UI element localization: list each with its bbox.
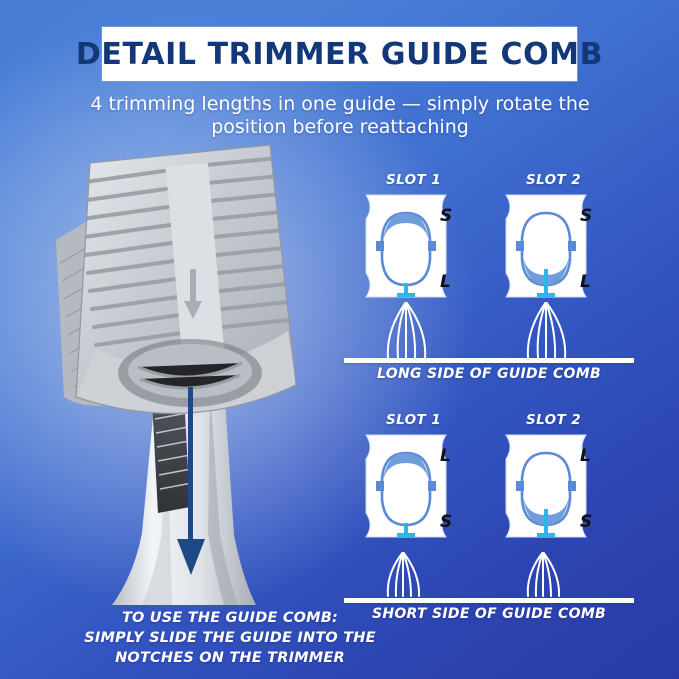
letter-bottom: S	[440, 512, 452, 532]
infographic-canvas: DETAIL TRIMMER GUIDE COMB 4 trimming len…	[0, 0, 679, 679]
letter-top: L	[580, 446, 591, 466]
slot-card-long-2: S L	[496, 191, 596, 301]
subtitle-line-2: position before reattaching	[90, 116, 590, 139]
slot-label-bot-2: SLOT 2	[526, 412, 581, 428]
letter-top: L	[440, 446, 451, 466]
product-illustration	[38, 135, 338, 615]
subtitle-line-1: 4 trimming lengths in one guide — simply…	[90, 93, 590, 116]
slot-card-long-1: S L	[356, 191, 456, 301]
page-subtitle: 4 trimming lengths in one guide — simply…	[90, 93, 590, 139]
letter-bottom: L	[440, 272, 451, 292]
ground-line-long	[344, 358, 634, 363]
slot-label-bot-1: SLOT 1	[386, 412, 441, 428]
letter-top: S	[580, 206, 592, 226]
product-image	[38, 135, 338, 615]
letter-top: S	[440, 206, 452, 226]
slot-label-top-2: SLOT 2	[526, 172, 581, 188]
usage-line-3: NOTCHES ON THE TRIMMER	[60, 648, 400, 668]
guide-comb	[76, 145, 298, 413]
title-box: DETAIL TRIMMER GUIDE COMB	[101, 26, 578, 82]
hair-strands-short-1	[368, 552, 438, 598]
slot-card-short-2: L S	[496, 431, 596, 541]
ground-line-short	[344, 598, 634, 603]
slot-label-top-1: SLOT 1	[386, 172, 441, 188]
hair-strands-short-2	[508, 552, 578, 598]
usage-line-2: SIMPLY SLIDE THE GUIDE INTO THE	[60, 628, 400, 648]
panel-long-side: SLOT 1 SLOT 2 S L	[344, 172, 634, 382]
letter-bottom: S	[580, 512, 592, 532]
usage-instructions: TO USE THE GUIDE COMB: SIMPLY SLIDE THE …	[60, 608, 400, 668]
hair-strands-long-2	[506, 302, 586, 360]
panel-caption-long: LONG SIDE OF GUIDE COMB	[344, 366, 634, 382]
letter-bottom: L	[580, 272, 591, 292]
hair-strands-long-1	[366, 302, 446, 360]
page-title: DETAIL TRIMMER GUIDE COMB	[76, 37, 603, 72]
slot-card-short-1: L S	[356, 431, 456, 541]
panel-short-side: SLOT 1 SLOT 2 L S	[344, 412, 634, 622]
usage-line-1: TO USE THE GUIDE COMB:	[60, 608, 400, 628]
